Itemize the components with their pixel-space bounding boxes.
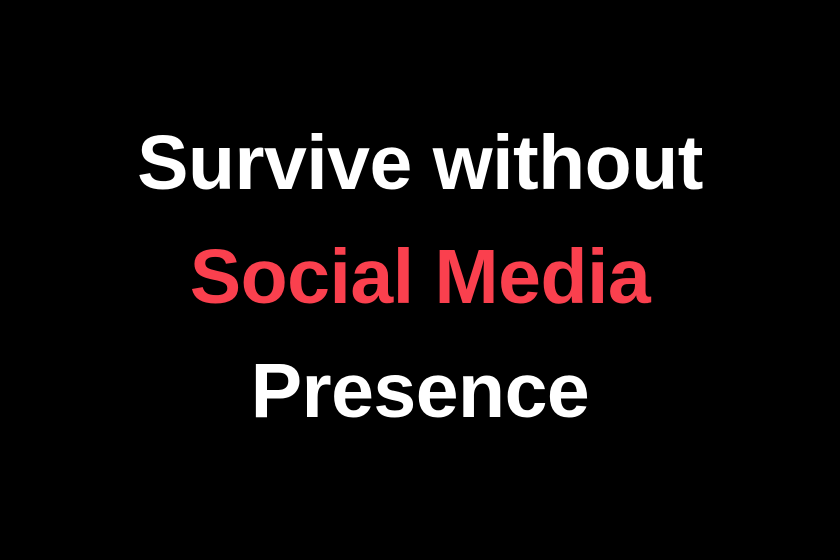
headline-line-3: Presence [137,334,703,448]
headline-line-1: Survive without [137,106,703,220]
page-title: Survive without Social Media Presence [137,106,703,448]
headline-line-2-accent: Social Media [137,220,703,334]
title-slide: Survive without Social Media Presence [0,0,840,560]
